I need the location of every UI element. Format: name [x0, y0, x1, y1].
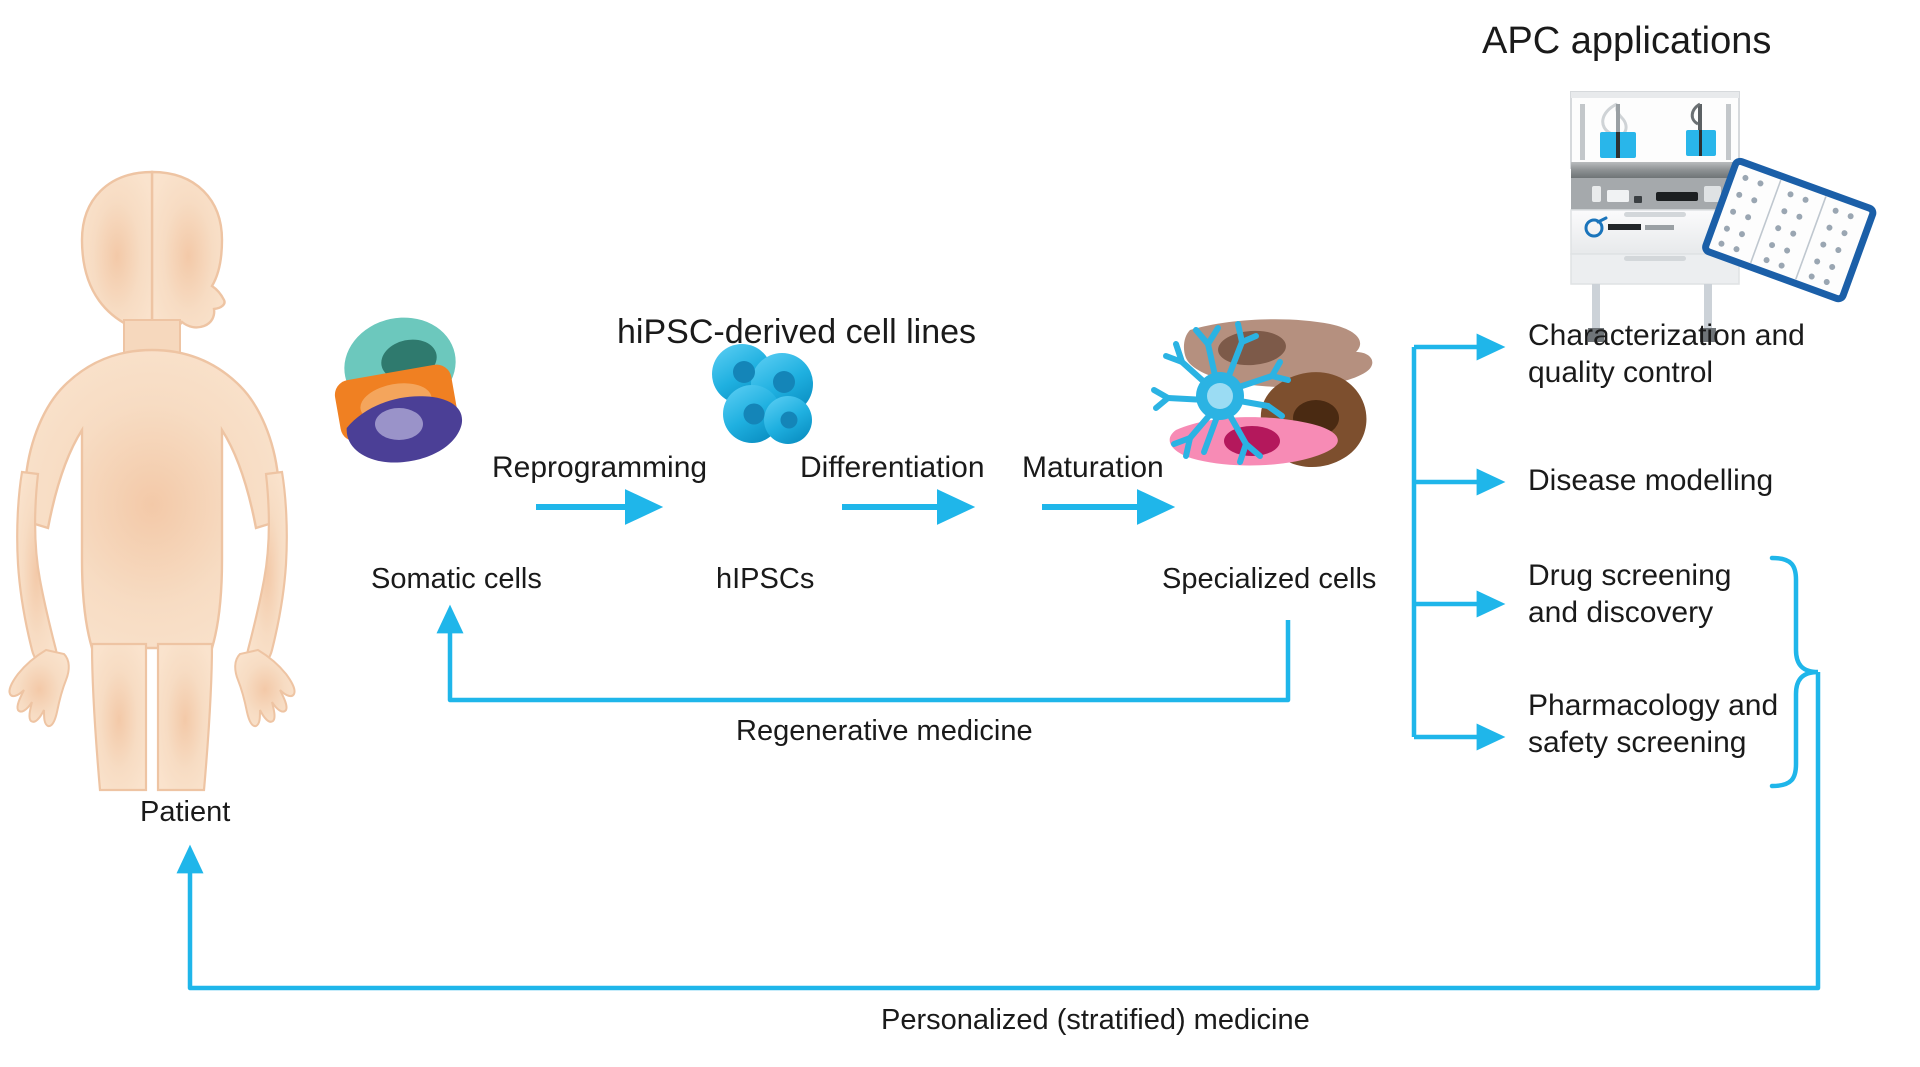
step-label-maturation: Maturation — [1022, 450, 1164, 487]
regenerative-medicine-connector — [450, 620, 1288, 700]
application-item-disease-modelling[interactable]: Disease modelling — [1528, 463, 1773, 500]
specialized-cells-graphic — [1154, 319, 1372, 467]
step-label-differentiation: Differentiation — [800, 450, 985, 487]
application-line-1: Pharmacology and — [1528, 688, 1778, 725]
node-label-specialized-cells: Specialized cells — [1162, 562, 1376, 597]
application-item-characterization[interactable]: Characterization and quality control — [1528, 318, 1805, 391]
applications-connector-tree — [1414, 347, 1482, 737]
application-line-1: Characterization and — [1528, 318, 1805, 355]
application-item-pharmacology[interactable]: Pharmacology and safety screening — [1528, 688, 1778, 761]
patient-label: Patient — [140, 795, 230, 830]
diagram-canvas: APC applications hiPSC-derived cell line… — [0, 0, 1920, 1067]
somatic-cells-graphic — [333, 307, 465, 466]
personalized-medicine-label: Personalized (stratified) medicine — [881, 1003, 1310, 1038]
hipsc-derived-cell-lines-title: hiPSC-derived cell lines — [617, 312, 976, 353]
application-line-2: safety screening — [1528, 725, 1778, 762]
application-item-drug-screening[interactable]: Drug screening and discovery — [1528, 558, 1731, 631]
hipsc-cluster-graphic — [712, 344, 813, 444]
apc-instrument-graphic — [1571, 92, 1874, 342]
application-line-2: and discovery — [1528, 595, 1731, 632]
application-line-2: quality control — [1528, 355, 1805, 392]
application-line-1: Drug screening — [1528, 558, 1731, 595]
regenerative-medicine-label: Regenerative medicine — [736, 714, 1033, 749]
apc-applications-title: APC applications — [1482, 18, 1771, 64]
step-label-reprogramming: Reprogramming — [492, 450, 707, 487]
diagram-graphics-layer — [0, 0, 1920, 1067]
node-label-somatic-cells: Somatic cells — [371, 562, 542, 597]
patient-silhouette-graphic — [9, 172, 294, 790]
application-line-1: Disease modelling — [1528, 463, 1773, 500]
applications-brace — [1772, 558, 1818, 786]
node-label-hipscs: hIPSCs — [716, 562, 814, 597]
